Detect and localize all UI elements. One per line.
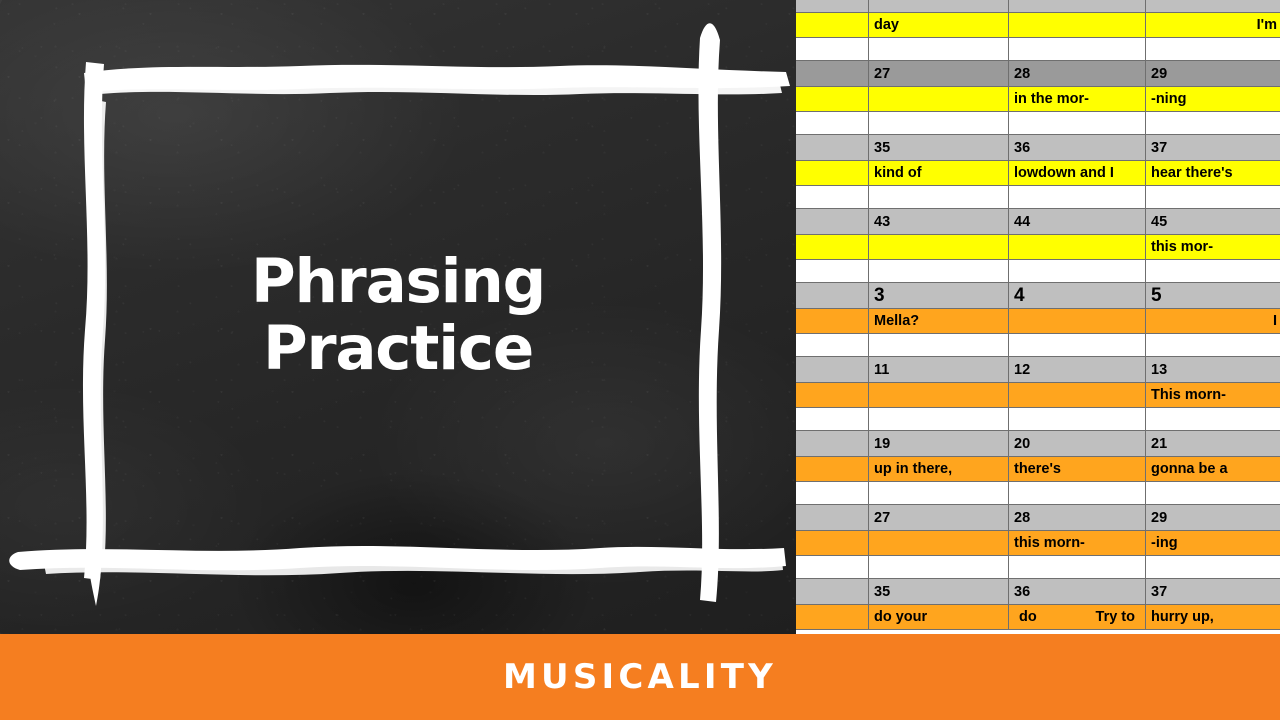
- bar-number-cell[interactable]: 42: [796, 209, 869, 235]
- lyric-cell[interactable]: [869, 531, 1009, 556]
- lyric-row[interactable]: iskind oflowdown and Ihear there's: [796, 161, 1280, 186]
- spacer-row[interactable]: [796, 38, 1280, 61]
- bar-number-row[interactable]: 3435363738: [796, 579, 1280, 605]
- lyric-cell[interactable]: gonna be a: [1146, 457, 1280, 482]
- lyric-cell[interactable]: this mor-: [1146, 235, 1280, 260]
- lyric-cell[interactable]: do your: [869, 605, 1009, 630]
- spacer-cell[interactable]: [796, 186, 869, 209]
- bar-number-row[interactable]: 3435363738: [796, 135, 1280, 161]
- bar-number-cell[interactable]: 21: [1146, 431, 1280, 457]
- spacer-cell[interactable]: [796, 260, 869, 283]
- bar-number-cell[interactable]: 35: [869, 579, 1009, 605]
- bar-number-cell[interactable]: 45: [1146, 209, 1280, 235]
- spreadsheet-panel[interactable]: dayI'mmaking my2627282930in the mor--nin…: [796, 0, 1280, 634]
- lyric-cell[interactable]: [869, 87, 1009, 112]
- spacer-cell[interactable]: [869, 482, 1009, 505]
- bar-number-cell[interactable]: [796, 0, 869, 13]
- spacer-cell[interactable]: [1146, 38, 1280, 61]
- lyric-cell[interactable]: there's: [1009, 457, 1146, 482]
- lyric-cell[interactable]: -ing: [1146, 531, 1280, 556]
- lyric-row[interactable]: dayI'mmaking my: [796, 13, 1280, 38]
- lyric-cell[interactable]: [869, 383, 1009, 408]
- bar-number-cell[interactable]: 29: [1146, 61, 1280, 87]
- bar-number-cell[interactable]: 11: [869, 357, 1009, 383]
- bar-number-cell[interactable]: [1146, 0, 1280, 13]
- bar-number-row[interactable]: 2627282930: [796, 61, 1280, 87]
- lyric-cell[interactable]: [796, 235, 869, 260]
- spacer-cell[interactable]: [1009, 408, 1146, 431]
- bar-number-cell[interactable]: 19: [869, 431, 1009, 457]
- lyric-cell[interactable]: ing: [796, 309, 869, 334]
- lyric-cell[interactable]: is: [796, 161, 869, 186]
- lyric-cell[interactable]: [869, 235, 1009, 260]
- bar-number-cell[interactable]: 37: [1146, 135, 1280, 161]
- lyric-row[interactable]: n anddo yourdoTry tohurry up,: [796, 605, 1280, 630]
- bar-number-cell[interactable]: 26: [796, 61, 869, 87]
- bar-number-cell[interactable]: [869, 0, 1009, 13]
- lyric-cell[interactable]: [1009, 235, 1146, 260]
- spacer-cell[interactable]: [1146, 260, 1280, 283]
- bar-number-cell[interactable]: 2: [796, 283, 869, 309]
- spacer-cell[interactable]: [1009, 186, 1146, 209]
- spacer-cell[interactable]: [869, 556, 1009, 579]
- bar-number-cell[interactable]: 27: [869, 505, 1009, 531]
- bar-number-row[interactable]: [796, 0, 1280, 13]
- spacer-row[interactable]: [796, 260, 1280, 283]
- lyric-cell[interactable]: doTry to: [1009, 605, 1146, 630]
- bar-number-row[interactable]: 4243444546: [796, 209, 1280, 235]
- spacer-cell[interactable]: [1009, 482, 1146, 505]
- page-title: Phrasing Practice: [0, 248, 796, 382]
- lyric-cell[interactable]: kind of: [869, 161, 1009, 186]
- bar-number-cell[interactable]: 10: [796, 357, 869, 383]
- lyric-cell[interactable]: Mella?: [869, 309, 1009, 334]
- bar-number-cell[interactable]: 36: [1009, 579, 1146, 605]
- lyric-cell[interactable]: [1009, 383, 1146, 408]
- bar-number-cell[interactable]: 29: [1146, 505, 1280, 531]
- bar-number-cell[interactable]: 26: [796, 505, 869, 531]
- spacer-cell[interactable]: [869, 38, 1009, 61]
- lyric-text-right: Try to: [1096, 609, 1135, 625]
- spacer-cell[interactable]: [1146, 186, 1280, 209]
- bar-number-row[interactable]: 1819202122: [796, 431, 1280, 457]
- bar-number-cell[interactable]: 12: [1009, 357, 1146, 383]
- spacer-cell[interactable]: [869, 408, 1009, 431]
- spacer-row[interactable]: [796, 482, 1280, 505]
- lyric-cell[interactable]: up in there,: [869, 457, 1009, 482]
- lyric-row[interactable]: this mor-: [796, 235, 1280, 260]
- lyric-cell[interactable]: [1009, 309, 1146, 334]
- lyric-cell[interactable]: be all: [796, 457, 869, 482]
- chalkboard-slide: Phrasing Practice: [0, 0, 796, 634]
- bar-number-cell[interactable]: 28: [1009, 61, 1146, 87]
- lyric-cell[interactable]: This morn-: [1146, 383, 1280, 408]
- lyric-cell[interactable]: in the mor-: [1009, 87, 1146, 112]
- lyric-text-left: do: [1019, 609, 1037, 625]
- lyric-cell[interactable]: hear there's: [1146, 161, 1280, 186]
- spacer-cell[interactable]: [1009, 556, 1146, 579]
- lyric-cell[interactable]: [1009, 13, 1146, 38]
- spacer-row[interactable]: [796, 556, 1280, 579]
- lyric-cell[interactable]: [796, 531, 869, 556]
- bar-number-cell[interactable]: 28: [1009, 505, 1146, 531]
- lyric-cell[interactable]: day: [869, 13, 1009, 38]
- bar-number-cell[interactable]: 36: [1009, 135, 1146, 161]
- bar-number-cell[interactable]: 20: [1009, 431, 1146, 457]
- spacer-cell[interactable]: [1146, 112, 1280, 135]
- bar-number-cell[interactable]: 13: [1146, 357, 1280, 383]
- lyric-cell[interactable]: [796, 383, 869, 408]
- lyric-row[interactable]: this morn--ing: [796, 531, 1280, 556]
- spacer-cell[interactable]: [796, 38, 869, 61]
- lyric-cell[interactable]: n and: [796, 605, 869, 630]
- spacer-cell[interactable]: [1146, 556, 1280, 579]
- spacer-cell[interactable]: [796, 408, 869, 431]
- lyric-cell[interactable]: hurry up,: [1146, 605, 1280, 630]
- lyric-cell[interactable]: I: [1146, 309, 1280, 334]
- bar-number-cell[interactable]: 43: [869, 209, 1009, 235]
- bar-number-cell[interactable]: 5: [1146, 283, 1280, 309]
- spacer-cell[interactable]: [796, 482, 869, 505]
- spacer-cell[interactable]: [1009, 112, 1146, 135]
- lyric-row[interactable]: in the mor--ning: [796, 87, 1280, 112]
- spacer-cell[interactable]: [796, 112, 869, 135]
- lyric-row[interactable]: This morn-: [796, 383, 1280, 408]
- slide-canvas: Phrasing Practice MUSICALITY dayI'mmakin…: [0, 0, 1280, 720]
- spacer-cell[interactable]: [796, 556, 869, 579]
- bar-number-row[interactable]: 2627282930: [796, 505, 1280, 531]
- bar-number-cell[interactable]: 27: [869, 61, 1009, 87]
- bar-number-cell[interactable]: [1009, 0, 1146, 13]
- spacer-cell[interactable]: [1009, 334, 1146, 357]
- spacer-cell[interactable]: [796, 334, 869, 357]
- bar-number-cell[interactable]: 44: [1009, 209, 1146, 235]
- spacer-cell[interactable]: [869, 260, 1009, 283]
- spreadsheet-scroll-area[interactable]: dayI'mmaking my2627282930in the mor--nin…: [796, 0, 1280, 630]
- bar-number-cell[interactable]: 4: [1009, 283, 1146, 309]
- spacer-cell[interactable]: [1009, 260, 1146, 283]
- spacer-cell[interactable]: [869, 112, 1009, 135]
- spacer-cell[interactable]: [1009, 38, 1146, 61]
- bar-number-cell[interactable]: 18: [796, 431, 869, 457]
- bar-number-cell[interactable]: 34: [796, 135, 869, 161]
- lyric-cell[interactable]: [796, 87, 869, 112]
- bar-number-cell[interactable]: 35: [869, 135, 1009, 161]
- brand-footer-bar: MUSICALITY: [0, 634, 1280, 720]
- spacer-cell[interactable]: [1146, 408, 1280, 431]
- lyric-row[interactable]: ingMella?I: [796, 309, 1280, 334]
- spacer-cell[interactable]: [1146, 482, 1280, 505]
- lyric-count-grid[interactable]: dayI'mmaking my2627282930in the mor--nin…: [796, 0, 1280, 630]
- bar-number-row[interactable]: 23456: [796, 283, 1280, 309]
- lyric-row[interactable]: be allup in there,there'sgonna be a: [796, 457, 1280, 482]
- bar-number-cell[interactable]: 37: [1146, 579, 1280, 605]
- spacer-cell[interactable]: [1146, 334, 1280, 357]
- bar-number-cell[interactable]: 34: [796, 579, 869, 605]
- brand-name: MUSICALITY: [503, 657, 777, 697]
- lyric-cell[interactable]: I'm: [1146, 13, 1280, 38]
- bar-number-row[interactable]: 1011121314: [796, 357, 1280, 383]
- lyric-cell[interactable]: this morn-: [1009, 531, 1146, 556]
- bar-number-cell[interactable]: 3: [869, 283, 1009, 309]
- spacer-row[interactable]: [796, 334, 1280, 357]
- lyric-cell[interactable]: [796, 13, 869, 38]
- spacer-row[interactable]: [796, 112, 1280, 135]
- lyric-cell[interactable]: lowdown and I: [1009, 161, 1146, 186]
- lyric-cell[interactable]: -ning: [1146, 87, 1280, 112]
- spacer-row[interactable]: [796, 186, 1280, 209]
- spacer-cell[interactable]: [869, 186, 1009, 209]
- spacer-row[interactable]: [796, 408, 1280, 431]
- spacer-cell[interactable]: [869, 334, 1009, 357]
